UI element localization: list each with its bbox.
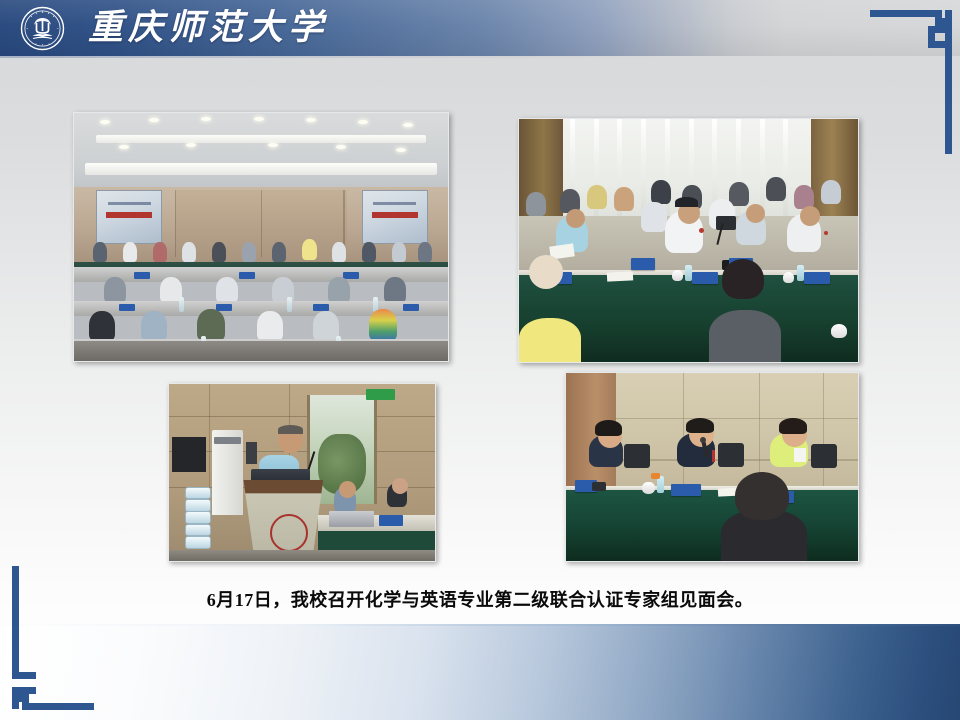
corner-ornament-top-right-icon (856, 4, 956, 164)
slide-caption: 6月17日，我校召开化学与英语专业第二级联合认证专家组见面会。 (0, 586, 960, 612)
photo-speaker-at-podium (168, 383, 436, 562)
photo-panel-women-speaking (565, 372, 859, 562)
header-divider (0, 56, 660, 58)
bottom-band (0, 626, 960, 720)
photo-head-table-officials (518, 118, 859, 363)
presentation-slide: 重庆师范大学 (0, 0, 960, 720)
corner-ornament-bottom-left-icon (8, 556, 108, 716)
photo-conference-hall-wide (73, 112, 449, 362)
university-name-title: 重庆师范大学 (88, 4, 328, 52)
university-emblem-icon (20, 6, 65, 51)
